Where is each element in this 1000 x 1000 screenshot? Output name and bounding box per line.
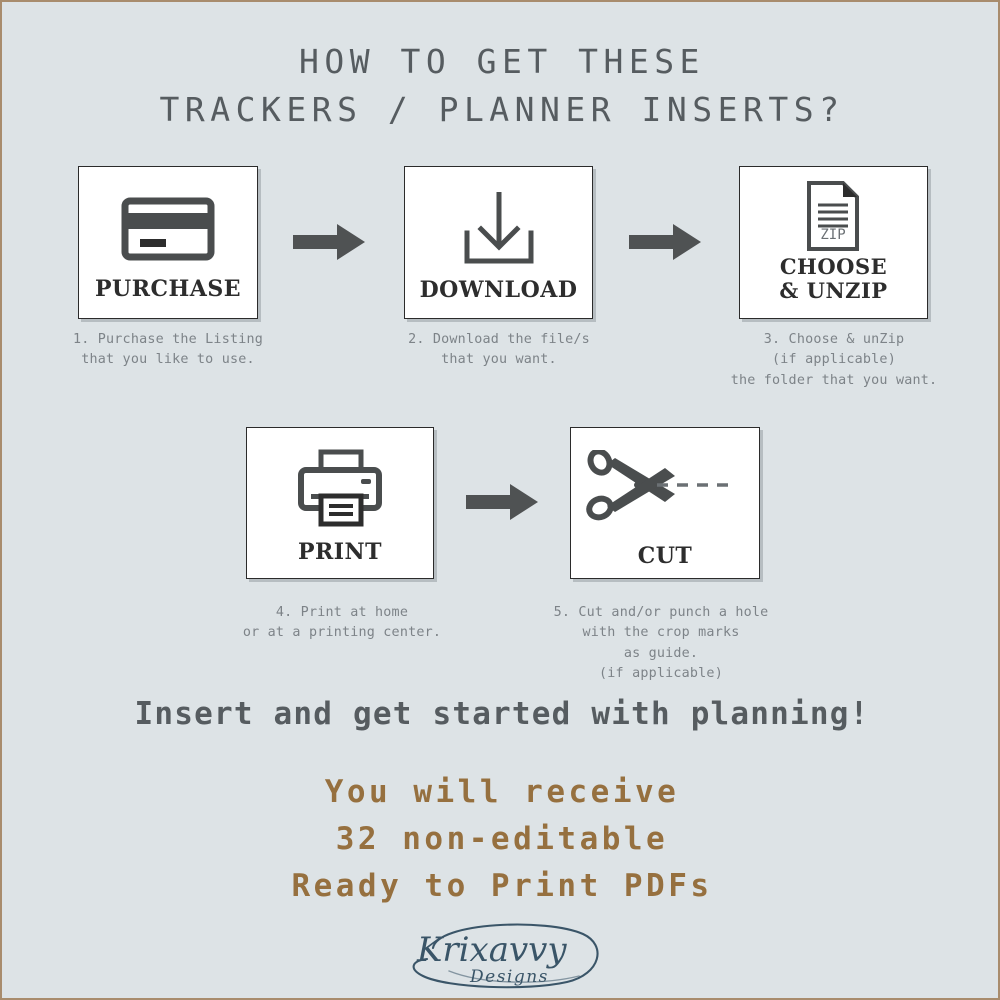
footer-receive-line-2: 32 non-editable (2, 821, 1000, 857)
logo-wordmark: Krixavvy (416, 930, 567, 970)
step-caption-purchase: 1. Purchase the Listing that you like to… (18, 330, 318, 371)
download-arrow-icon (405, 189, 592, 267)
step-card-label-print: PRINT (247, 540, 433, 565)
logo-subtitle: Designs (469, 967, 549, 987)
step-card-cut: CUT (570, 427, 760, 579)
zip-icon-text: ZIP (820, 227, 845, 243)
step-card-label-purchase: PURCHASE (79, 277, 257, 302)
printer-icon (247, 448, 433, 528)
step-card-purchase: PURCHASE (78, 166, 258, 319)
arrow-right-icon (293, 222, 365, 262)
scissors-icon (571, 450, 759, 522)
step-caption-unzip: 3. Choose & unZip (if applicable) the fo… (684, 330, 984, 391)
step-card-download: DOWNLOAD (404, 166, 593, 319)
page-title-line-2: TRACKERS / PLANNER INSERTS? (2, 90, 1000, 129)
step-card-label-unzip: CHOOSE & UNZIP (740, 255, 927, 303)
poster-canvas: HOW TO GET THESE TRACKERS / PLANNER INSE… (0, 0, 1000, 1000)
step-card-print: PRINT (246, 427, 434, 579)
arrow-right-icon (466, 482, 538, 522)
credit-card-icon (79, 193, 257, 265)
arrow-right-icon (629, 222, 701, 262)
page-title-line-1: HOW TO GET THESE (2, 42, 1000, 81)
step-caption-download: 2. Download the file/s that you want. (349, 330, 649, 371)
zip-file-icon: ZIP (740, 179, 927, 253)
footer-receive-line-3: Ready to Print PDFs (2, 868, 1000, 904)
step-caption-cut: 5. Cut and/or punch a hole with the crop… (511, 603, 811, 685)
footer-receive-line-1: You will receive (2, 774, 1000, 810)
brand-logo: Krixavvy Designs (397, 914, 612, 992)
step-caption-print: 4. Print at home or at a printing center… (192, 603, 492, 644)
step-card-label-download: DOWNLOAD (405, 278, 592, 303)
footer-headline: Insert and get started with planning! (2, 696, 1000, 732)
step-card-unzip: ZIP CHOOSE & UNZIP (739, 166, 928, 319)
step-card-label-cut: CUT (571, 544, 759, 569)
